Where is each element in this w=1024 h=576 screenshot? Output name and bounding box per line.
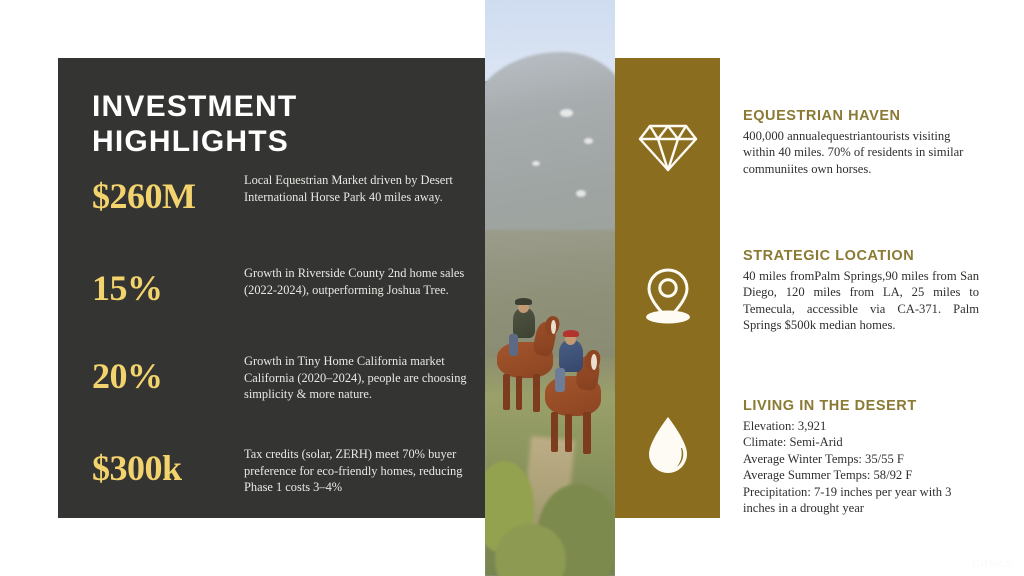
horse-blaze	[591, 354, 597, 370]
info-block-body: Elevation: 3,921Climate: Semi-AridAverag…	[743, 418, 979, 517]
info-block-title: Strategic Location	[743, 248, 979, 264]
info-block-title: Living in the Desert	[743, 398, 979, 414]
stat-description: Growth in Riverside County 2nd home sale…	[244, 256, 472, 298]
page-title: InvestmentHighlights	[92, 89, 432, 160]
hero-photo-strip	[485, 0, 615, 576]
location-pin-icon	[639, 266, 697, 326]
stat-row: $260M Local Equestrian Market driven by …	[92, 168, 472, 256]
info-block-body: 40 miles fromPalm Springs,90 miles from …	[743, 268, 979, 334]
stats-list: $260M Local Equestrian Market driven by …	[92, 168, 472, 520]
stat-row: 20% Growth in Tiny Home California marke…	[92, 344, 472, 432]
icon-column	[615, 58, 720, 518]
info-block-strategic-location: Strategic Location 40 miles fromPalm Spr…	[743, 248, 979, 334]
rider-hat	[563, 330, 579, 337]
horse-leg	[503, 374, 510, 410]
stat-description: Growth in Tiny Home California market Ca…	[244, 344, 472, 403]
rider-leg	[555, 368, 565, 392]
stat-row: $300k Tax credits (solar, ZERH) meet 70%…	[92, 432, 472, 520]
stat-value: $300k	[92, 432, 244, 486]
info-block-equestrian-haven: Equestrian Haven 400,000 annualequestria…	[743, 108, 979, 177]
horse-leg	[583, 412, 591, 454]
stat-description: Local Equestrian Market driven by Desert…	[244, 168, 472, 205]
stat-value: $260M	[92, 168, 244, 214]
stat-description: Tax credits (solar, ZERH) meet 70% buyer…	[244, 432, 472, 496]
water-drop-icon	[642, 415, 694, 477]
slide-canvas: InvestmentHighlights $260M Local Equestr…	[0, 0, 1024, 576]
water-drop-icon-slot	[615, 410, 720, 482]
location-pin-icon-slot	[615, 260, 720, 332]
stat-value: 20%	[92, 344, 244, 394]
stat-row: 15% Growth in Riverside County 2nd home …	[92, 256, 472, 344]
info-block-title: Equestrian Haven	[743, 108, 979, 124]
rider-hat	[515, 298, 532, 305]
info-block-body: 400,000 annualequestriantourists visitin…	[743, 128, 979, 177]
info-block-living-in-the-desert: Living in the Desert Elevation: 3,921Cli…	[743, 398, 979, 517]
rider-leg	[509, 334, 518, 356]
crmls-watermark: CRMLS	[972, 558, 1014, 570]
horse-leg	[565, 414, 572, 452]
horse-leg	[516, 376, 522, 410]
stat-value: 15%	[92, 256, 244, 306]
diamond-icon	[637, 118, 699, 174]
horse-and-rider-right	[535, 330, 611, 470]
investment-highlights-panel: InvestmentHighlights $260M Local Equestr…	[58, 58, 485, 518]
horse-leg	[551, 412, 558, 452]
diamond-icon-slot	[615, 110, 720, 182]
